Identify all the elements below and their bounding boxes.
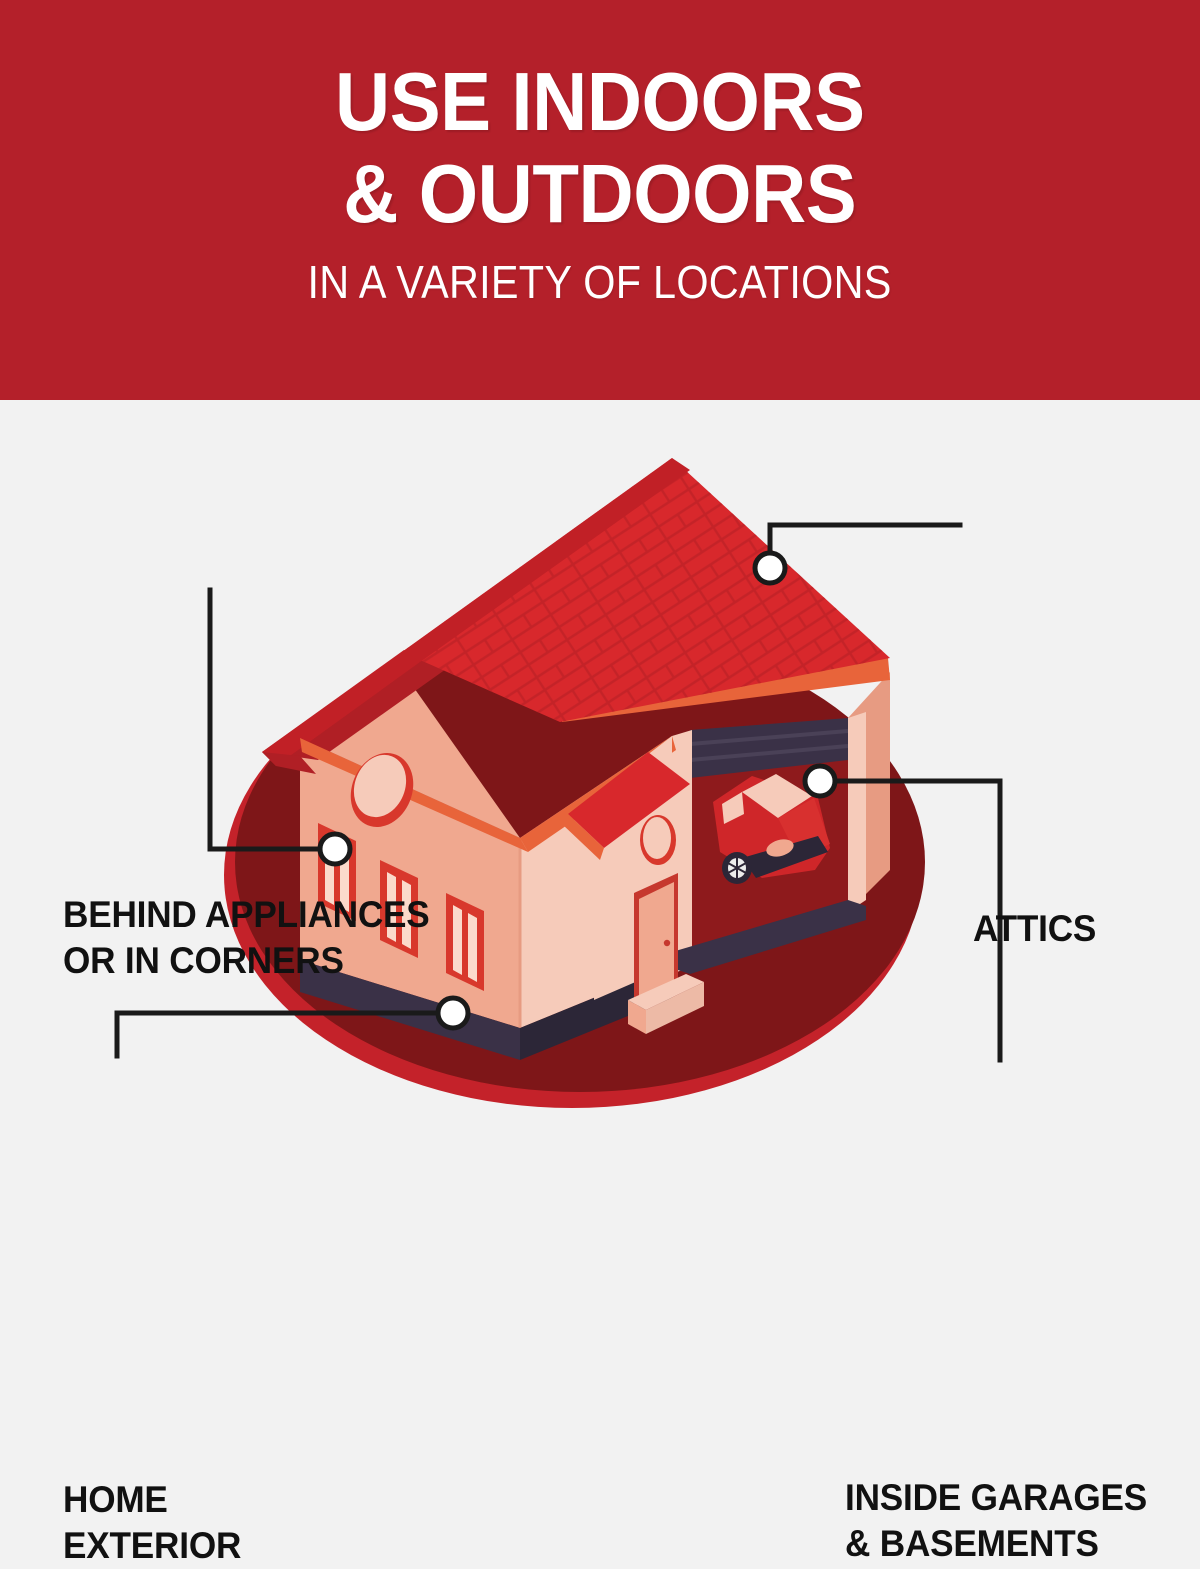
marker-dot-behind-appliances[interactable] (320, 834, 350, 864)
page-subtitle: IN A VARIETY OF LOCATIONS (308, 255, 892, 309)
door-knob (664, 940, 670, 946)
page-title-line-1: USE INDOORS (335, 62, 865, 143)
leader-line-attics (770, 525, 960, 568)
attic-vent-right (643, 817, 671, 859)
marker-dot-attics[interactable] (755, 553, 785, 583)
callout-label-attics: ATTICS (973, 906, 1096, 952)
callout-label-behind-appliances-line-2: OR IN CORNERS (63, 938, 430, 984)
callout-label-attics-line-1: ATTICS (973, 906, 1096, 952)
callout-label-inside-garages-line-1: INSIDE GARAGES (845, 1475, 1147, 1521)
illustration-diagram: BEHIND APPLIANCES OR IN CORNERS ATTICS H… (0, 400, 1200, 1200)
garage-right-jamb (848, 712, 866, 912)
callout-label-behind-appliances-line-1: BEHIND APPLIANCES (63, 892, 430, 938)
callout-label-inside-garages: INSIDE GARAGES & BASEMENTS (845, 1475, 1147, 1567)
house-illustration (0, 400, 1200, 1200)
window-glass-3b (468, 913, 477, 982)
callout-label-home-exterior: HOME EXTERIOR (63, 1477, 241, 1569)
callout-label-home-exterior-line-1: HOME (63, 1477, 241, 1523)
marker-dot-home-exterior[interactable] (438, 998, 468, 1028)
window-glass-3a (453, 905, 462, 975)
page-title-line-2: & OUTDOORS (344, 154, 857, 235)
callout-label-inside-garages-line-2: & BASEMENTS (845, 1521, 1147, 1567)
header-banner: USE INDOORS & OUTDOORS IN A VARIETY OF L… (0, 0, 1200, 400)
marker-dot-inside-garages[interactable] (805, 766, 835, 796)
callout-label-home-exterior-line-2: EXTERIOR (63, 1523, 241, 1569)
callout-label-behind-appliances: BEHIND APPLIANCES OR IN CORNERS (63, 892, 430, 984)
